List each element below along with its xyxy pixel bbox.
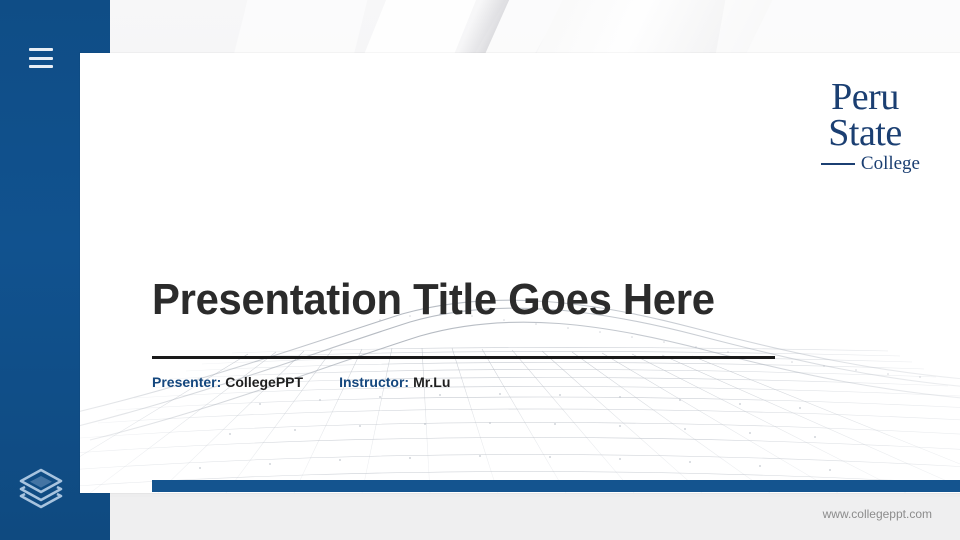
slide-meta-row: Presenter: CollegePPT Instructor: Mr.Lu: [152, 374, 450, 390]
peru-state-college-logo: Peru State College: [810, 79, 920, 173]
hamburger-bar-2: [29, 57, 53, 60]
logo-line-2: State: [810, 115, 920, 151]
logo-line-3: College: [861, 155, 920, 173]
slide-footer-bar: [152, 480, 960, 492]
layers-stack-icon[interactable]: [14, 460, 68, 514]
instructor-label: Instructor:: [339, 374, 409, 390]
presenter-value: CollegePPT: [225, 374, 303, 390]
hamburger-bar-3: [29, 65, 53, 68]
presenter-label: Presenter:: [152, 374, 221, 390]
site-watermark: www.collegeppt.com: [823, 507, 932, 521]
hamburger-menu-icon[interactable]: [29, 48, 53, 68]
hamburger-bar-1: [29, 48, 53, 51]
logo-line-1: Peru: [810, 79, 920, 115]
instructor-value: Mr.Lu: [413, 374, 450, 390]
title-divider: [152, 356, 775, 359]
meta-item-instructor: Instructor: Mr.Lu: [339, 374, 450, 390]
meta-item-presenter: Presenter: CollegePPT: [152, 374, 303, 390]
slide-canvas: Peru State College Presentation Title Go…: [80, 53, 960, 493]
app-root: Peru State College Presentation Title Go…: [0, 0, 960, 540]
slide-title: Presentation Title Goes Here: [152, 275, 715, 325]
slide-footer-bar-wrap: [80, 480, 960, 492]
logo-line-3-row: College: [810, 155, 920, 173]
logo-rule: [821, 163, 855, 165]
